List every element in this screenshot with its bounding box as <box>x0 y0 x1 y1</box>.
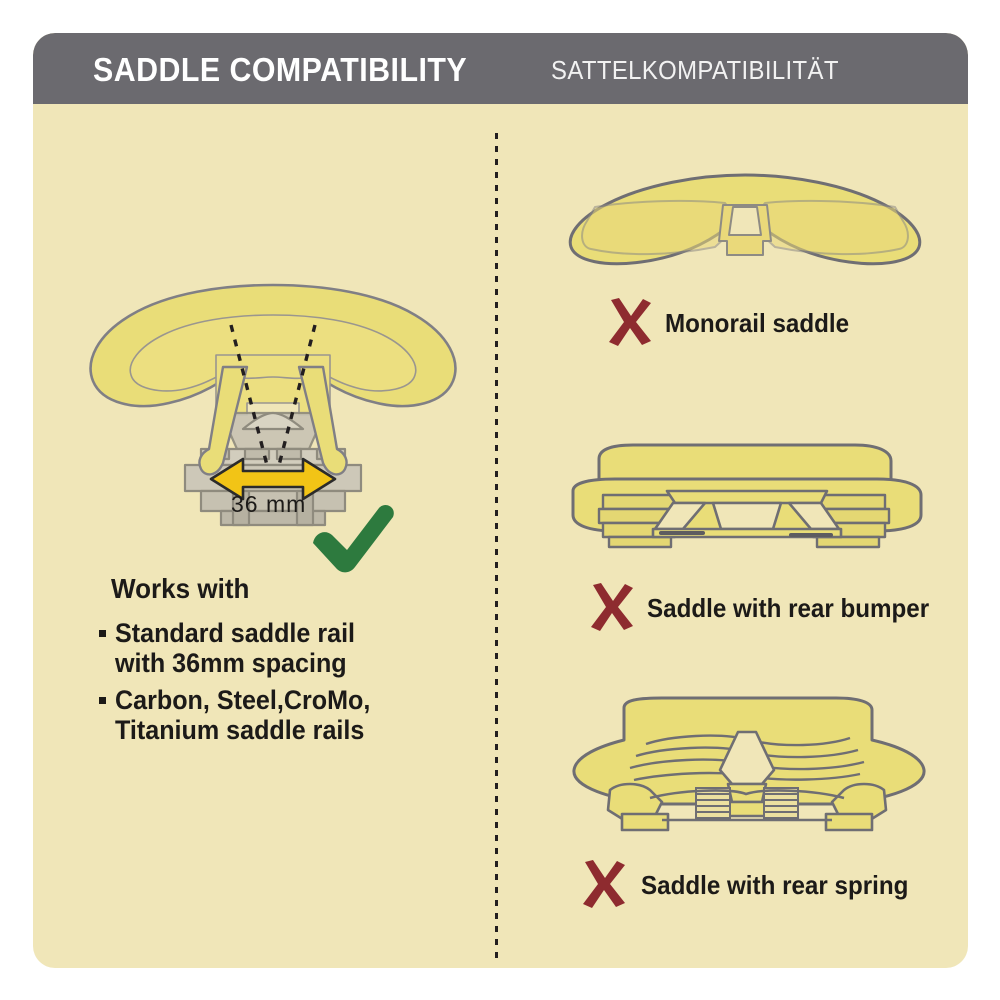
monorail-saddle-illustration <box>565 163 925 293</box>
page-title-german: SATTELKOMPATIBILITÄT <box>551 55 839 86</box>
incompatible-item-rear-bumper: Saddle with rear bumper <box>495 433 968 648</box>
bullet-dot-icon <box>99 697 106 704</box>
compatible-saddle-illustration <box>73 263 473 523</box>
card-header: SADDLE COMPATIBILITY SATTELKOMPATIBILITÄ… <box>33 33 968 104</box>
dimension-label: 36 mm <box>231 491 306 518</box>
rear-spring-saddle-illustration <box>550 698 940 853</box>
red-cross-icon <box>579 860 627 908</box>
incompatible-label-rear-spring: Saddle with rear spring <box>641 870 908 901</box>
works-with-title: Works with <box>111 573 249 605</box>
list-item-text: Carbon, Steel,CroMo, Titanium saddle rai… <box>115 686 431 745</box>
green-check-icon <box>305 503 400 573</box>
bullet-dot-icon <box>99 630 106 637</box>
red-cross-icon <box>587 583 635 631</box>
compatibility-card: SADDLE COMPATIBILITY SATTELKOMPATIBILITÄ… <box>33 33 968 968</box>
infographic-root: SADDLE COMPATIBILITY SATTELKOMPATIBILITÄ… <box>0 0 1000 1000</box>
list-item: Standard saddle rail with 36mm spacing <box>95 619 455 678</box>
incompatible-label-rear-bumper: Saddle with rear bumper <box>647 593 929 624</box>
incompatible-item-monorail: Monorail saddle <box>495 143 968 358</box>
list-item: Carbon, Steel,CroMo, Titanium saddle rai… <box>95 686 455 745</box>
incompatible-label-monorail: Monorail saddle <box>665 308 849 339</box>
red-cross-icon <box>605 298 653 346</box>
rear-bumper-saddle-illustration <box>555 443 935 578</box>
list-item-text: Standard saddle rail with 36mm spacing <box>115 619 431 678</box>
incompatible-item-rear-spring: Saddle with rear spring <box>495 688 968 918</box>
page-title-english: SADDLE COMPATIBILITY <box>93 51 467 89</box>
works-with-bullet-list: Standard saddle rail with 36mm spacing C… <box>95 619 455 754</box>
